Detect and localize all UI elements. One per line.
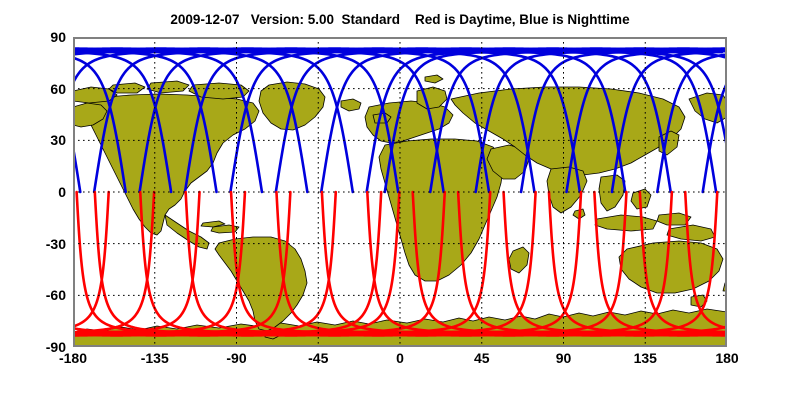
x-tick-label: 0 bbox=[396, 350, 404, 366]
x-tick-label: -45 bbox=[308, 350, 328, 366]
y-tick-label: -30 bbox=[46, 236, 66, 252]
x-tick-label: -135 bbox=[141, 350, 169, 366]
x-tick-label: 45 bbox=[474, 350, 490, 366]
y-tick-label: 90 bbox=[50, 29, 66, 45]
x-tick-label: 180 bbox=[715, 350, 738, 366]
x-tick-label: 135 bbox=[634, 350, 657, 366]
land-canadian-arctic-2 bbox=[147, 81, 189, 93]
x-tick-label: -90 bbox=[226, 350, 246, 366]
y-tick-label: 60 bbox=[50, 81, 66, 97]
plot-svg bbox=[73, 37, 727, 347]
x-tick-label: -180 bbox=[59, 350, 87, 366]
y-tick-label: -60 bbox=[46, 287, 66, 303]
figure: 2009-12-07 Version: 5.00 Standard Red is… bbox=[0, 0, 800, 400]
chart-title: 2009-12-07 Version: 5.00 Standard Red is… bbox=[0, 12, 800, 27]
plot-area bbox=[73, 37, 727, 347]
y-tick-label: 30 bbox=[50, 132, 66, 148]
x-tick-label: 90 bbox=[556, 350, 572, 366]
y-tick-label: 0 bbox=[58, 184, 66, 200]
